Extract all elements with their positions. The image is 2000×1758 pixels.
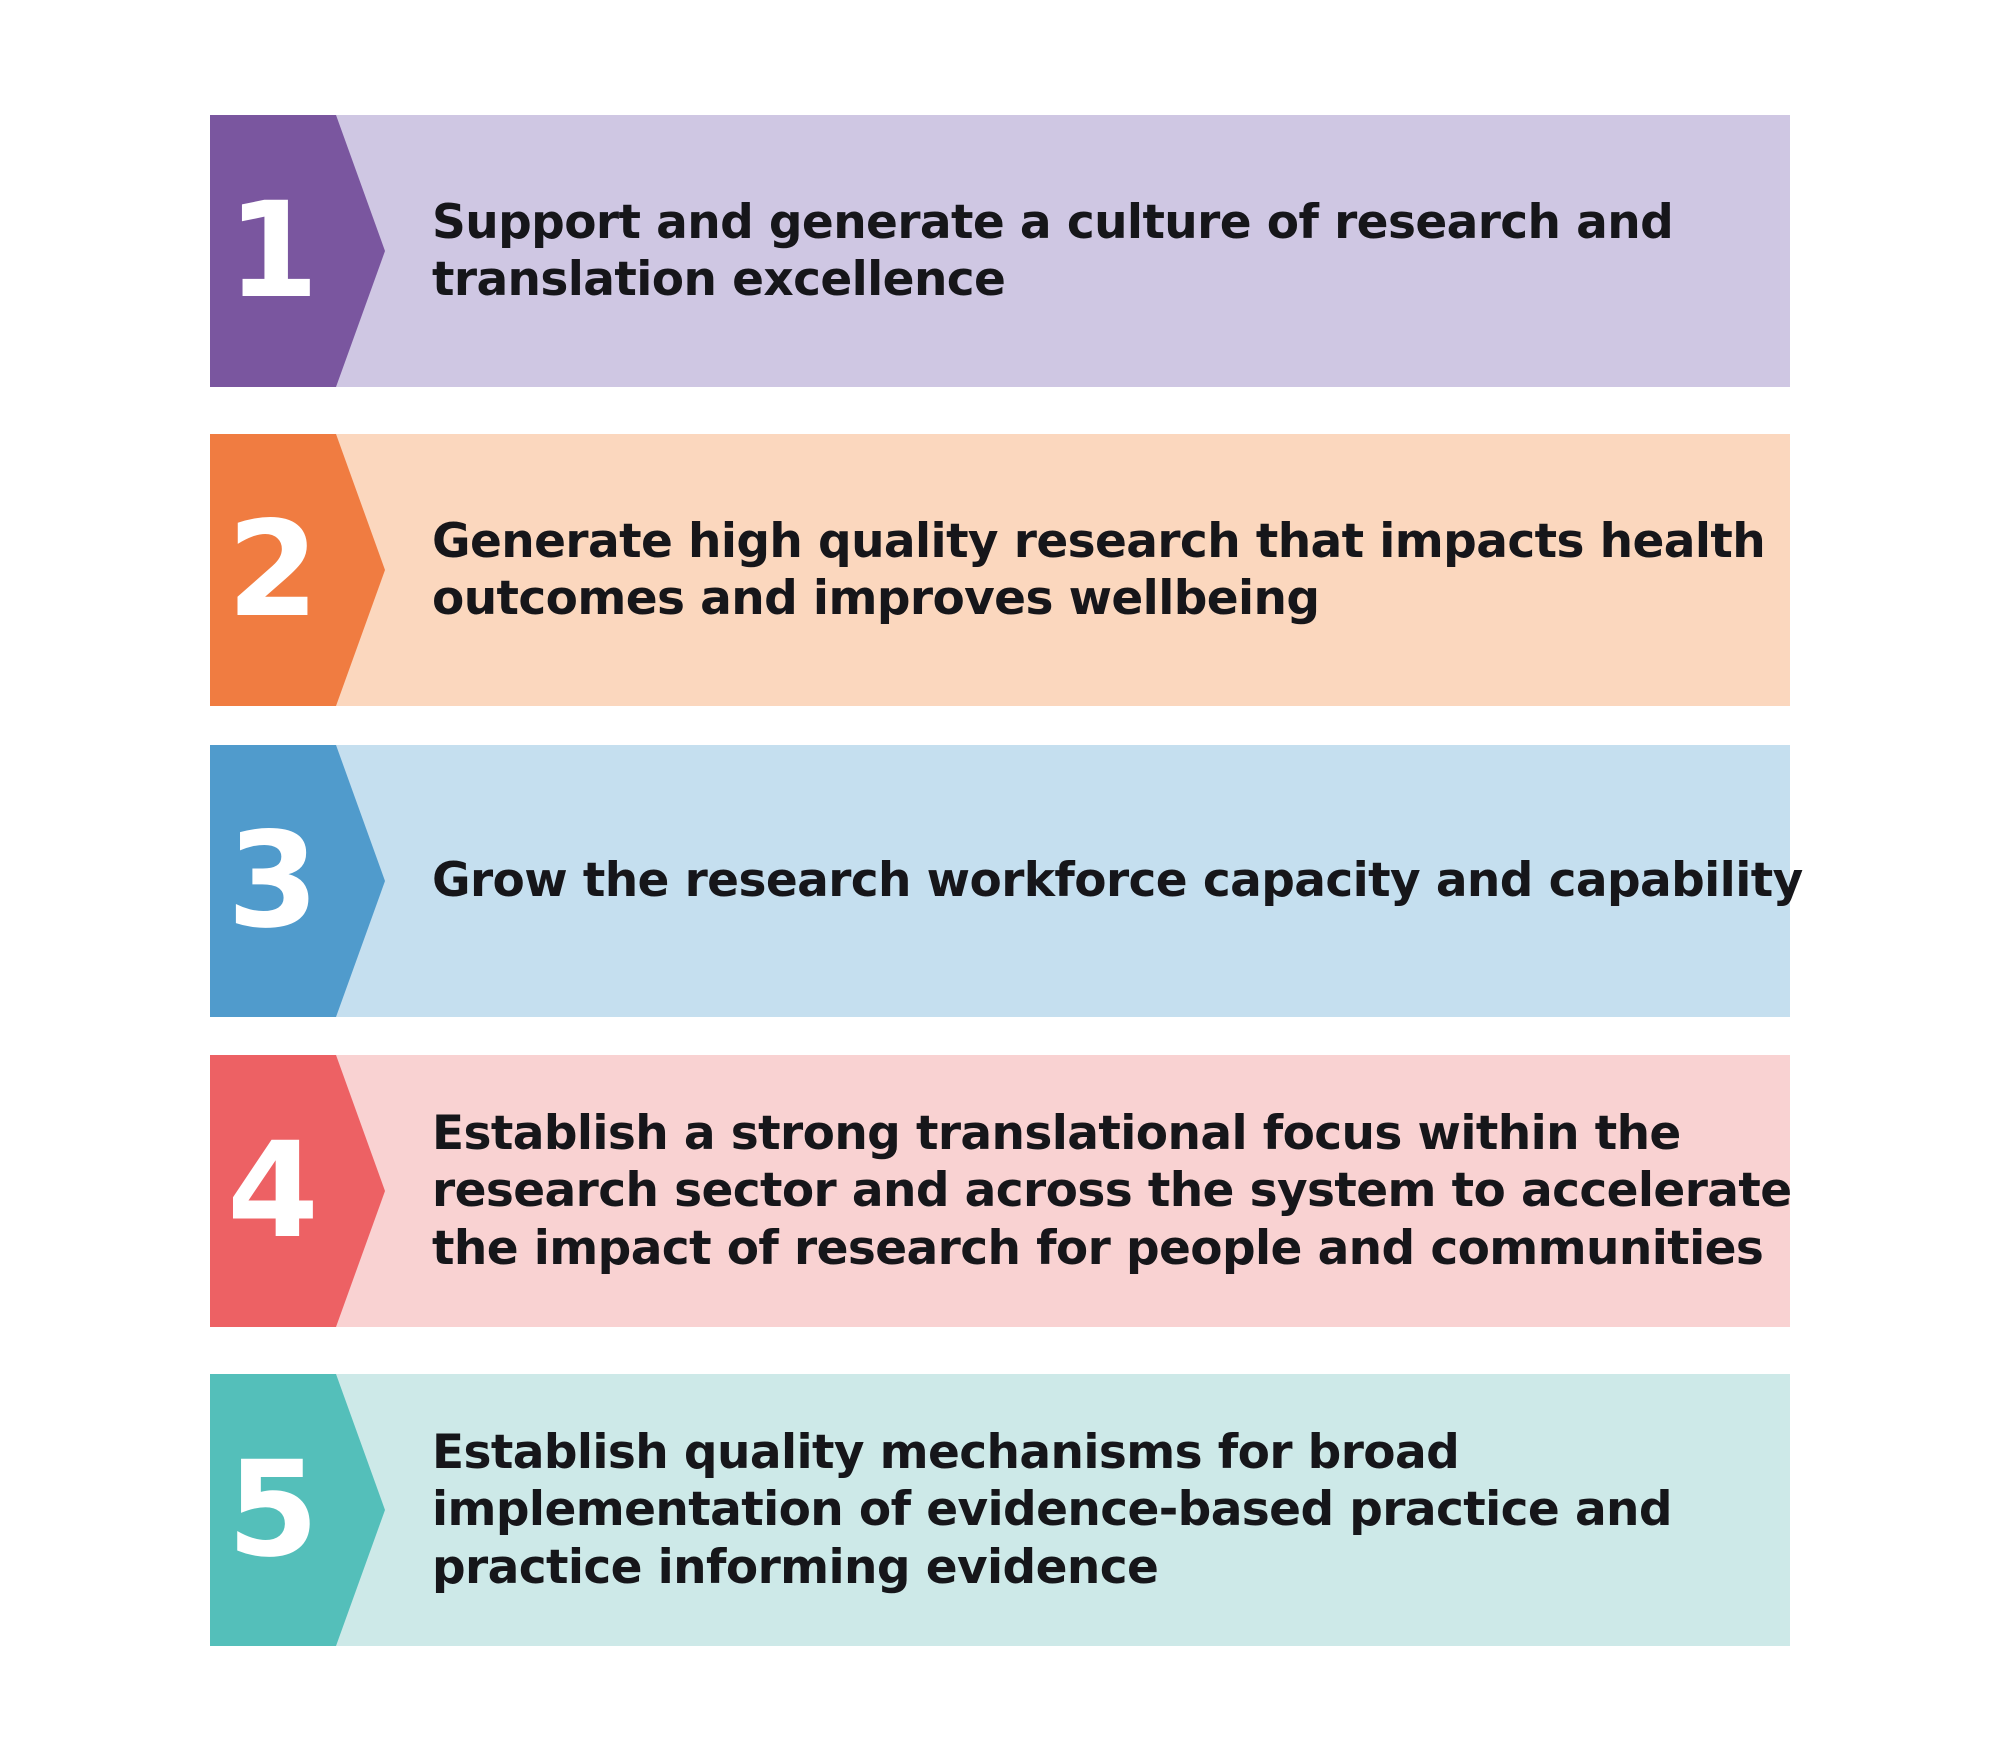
priority-text-line: outcomes and improves wellbeing	[432, 570, 1752, 627]
arrow-marker-3: 3	[210, 745, 385, 1017]
priority-number-1: 1	[210, 115, 334, 387]
priority-text-line: Grow the research workforce capacity and…	[432, 852, 1752, 909]
priority-band-3: 3 Grow the research workforce capacity a…	[210, 745, 1790, 1017]
priority-text-2: Generate high quality research that impa…	[432, 434, 1752, 706]
arrow-marker-2: 2	[210, 434, 385, 706]
priority-text-4: Establish a strong translational focus w…	[432, 1055, 1752, 1327]
priority-text-line: research sector and across the system to…	[432, 1162, 1752, 1219]
priority-text-line: translation excellence	[432, 251, 1752, 308]
priority-text-3: Grow the research workforce capacity and…	[432, 745, 1752, 1017]
priority-text-line: the impact of research for people and co…	[432, 1220, 1752, 1277]
priority-band-1: 1 Support and generate a culture of rese…	[210, 115, 1790, 387]
priority-text-1: Support and generate a culture of resear…	[432, 115, 1752, 387]
priority-band-4: 4 Establish a strong translational focus…	[210, 1055, 1790, 1327]
priority-number-5: 5	[210, 1374, 334, 1646]
priority-text-5: Establish quality mechanisms for broadim…	[432, 1374, 1752, 1646]
diagram-canvas: 1 Support and generate a culture of rese…	[0, 0, 2000, 1758]
arrow-marker-4: 4	[210, 1055, 385, 1327]
priority-text-line: Establish a strong translational focus w…	[432, 1105, 1752, 1162]
priority-text-line: Generate high quality research that impa…	[432, 513, 1752, 570]
priority-band-2: 2 Generate high quality research that im…	[210, 434, 1790, 706]
priority-text-line: Establish quality mechanisms for broad	[432, 1424, 1752, 1481]
priority-number-4: 4	[210, 1055, 334, 1327]
priority-band-5: 5 Establish quality mechanisms for broad…	[210, 1374, 1790, 1646]
arrow-marker-1: 1	[210, 115, 385, 387]
priority-text-line: practice informing evidence	[432, 1539, 1752, 1596]
priority-text-line: Support and generate a culture of resear…	[432, 194, 1752, 251]
arrow-marker-5: 5	[210, 1374, 385, 1646]
priority-text-line: implementation of evidence-based practic…	[432, 1481, 1752, 1538]
priority-number-3: 3	[210, 745, 334, 1017]
priority-number-2: 2	[210, 434, 334, 706]
